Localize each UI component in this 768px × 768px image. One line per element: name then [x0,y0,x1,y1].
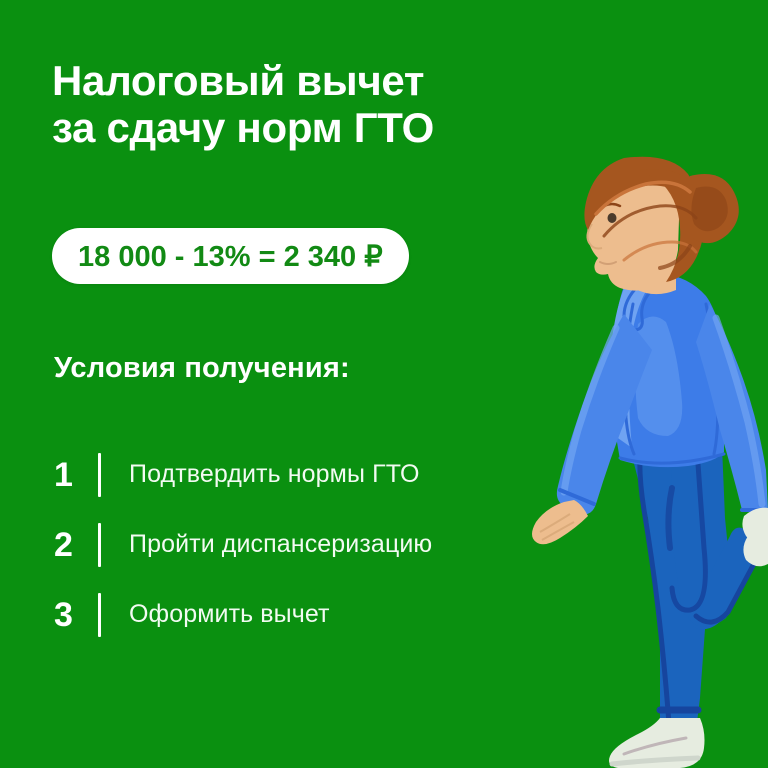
list-item-number: 2 [54,528,98,562]
woman-stretching-illustration [520,118,768,768]
page-title: Налоговый вычет за сдачу норм ГТО [52,57,522,151]
list-item-divider [98,523,101,567]
list-item-label: Подтвердить нормы ГТО [129,461,420,489]
left-hand [532,500,588,544]
tax-calculation-badge: 18 000 - 13% = 2 340 ₽ [52,228,409,284]
eye [608,213,617,223]
list-item: 2 Пройти диспансеризацию [54,510,524,580]
list-item-divider [98,453,101,497]
tax-calculation-text: 18 000 - 13% = 2 340 ₽ [78,239,383,274]
list-item-number: 3 [54,598,98,632]
list-item: 3 Оформить вычет [54,580,524,650]
conditions-heading: Условия получения: [54,352,350,385]
poster-root: Налоговый вычет за сдачу норм ГТО 18 000… [0,0,768,768]
pants-pocket-line [668,488,672,548]
list-item-divider [98,593,101,637]
list-item-label: Пройти диспансеризацию [129,531,432,559]
list-item-label: Оформить вычет [129,601,330,629]
list-item-number: 1 [54,458,98,492]
conditions-list: 1 Подтвердить нормы ГТО 2 Пройти диспанс… [54,440,524,650]
list-item: 1 Подтвердить нормы ГТО [54,440,524,510]
